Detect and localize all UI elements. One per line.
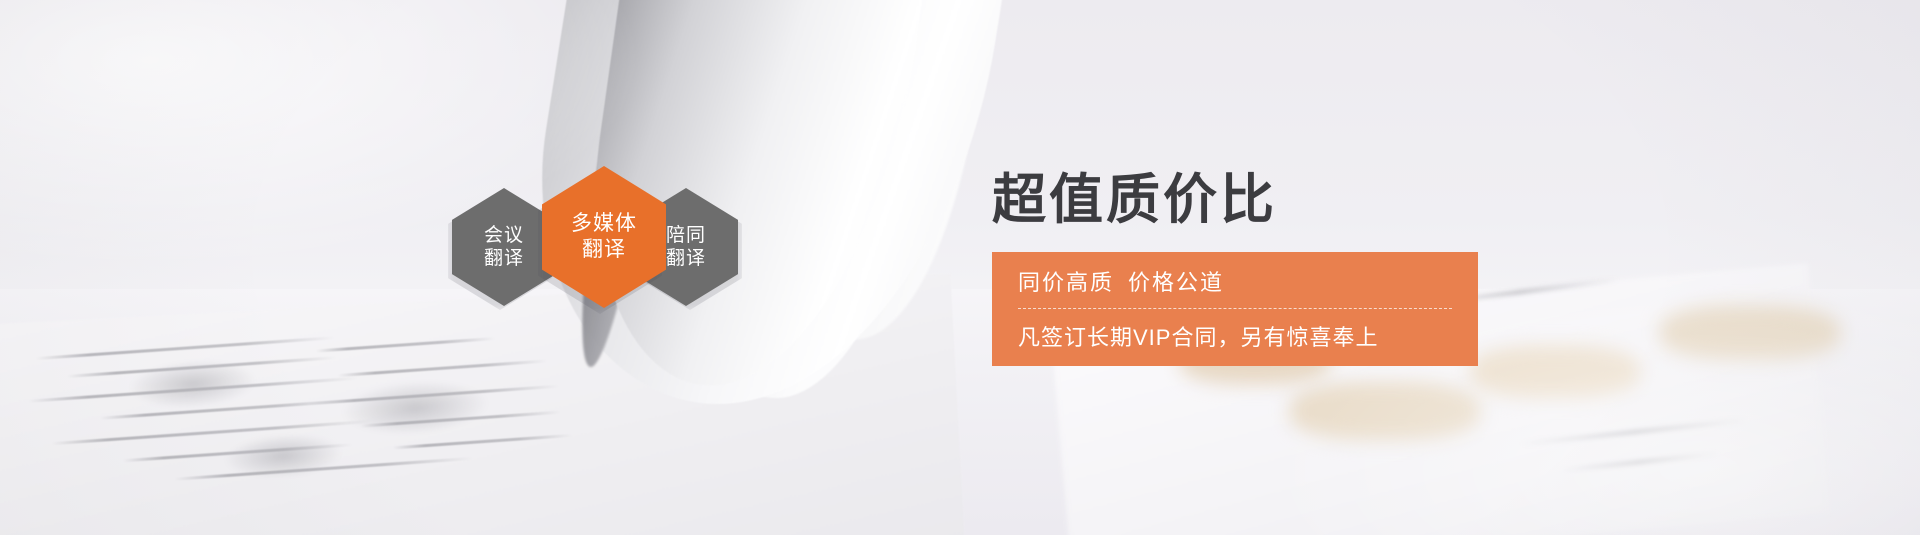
promo-box: 同价高质价格公道 凡签订长期VIP合同，另有惊喜奉上 (992, 252, 1478, 366)
banner-copy-block: 超值质价比 同价高质价格公道 凡签订长期VIP合同，另有惊喜奉上 (992, 170, 1692, 366)
hexagon-label-line2: 翻译 (484, 247, 524, 270)
promo-line1-part2: 价格公道 (1128, 270, 1224, 295)
banner-headline: 超值质价比 (992, 170, 1692, 230)
hexagon-label-line2: 翻译 (582, 237, 626, 263)
photo-warm-blob (1290, 382, 1480, 440)
service-hexagon-cluster: 会议 翻译 陪同 翻译 多媒体 翻译 (368, 148, 788, 348)
promo-line1-part1: 同价高质 (1018, 270, 1114, 295)
hexagon-label-line1: 陪同 (666, 224, 706, 247)
hexagon-label-line2: 翻译 (666, 247, 706, 270)
hexagon-label-line1: 会议 (484, 224, 524, 247)
promotional-banner: 会议 翻译 陪同 翻译 多媒体 翻译 超值质价比 同价高质价格公道 凡签订长期V… (0, 0, 1920, 535)
promo-line-2: 凡签订长期VIP合同，另有惊喜奉上 (1018, 309, 1452, 352)
hexagon-label-line1: 多媒体 (571, 211, 637, 237)
promo-line-1: 同价高质价格公道 (1018, 265, 1452, 308)
